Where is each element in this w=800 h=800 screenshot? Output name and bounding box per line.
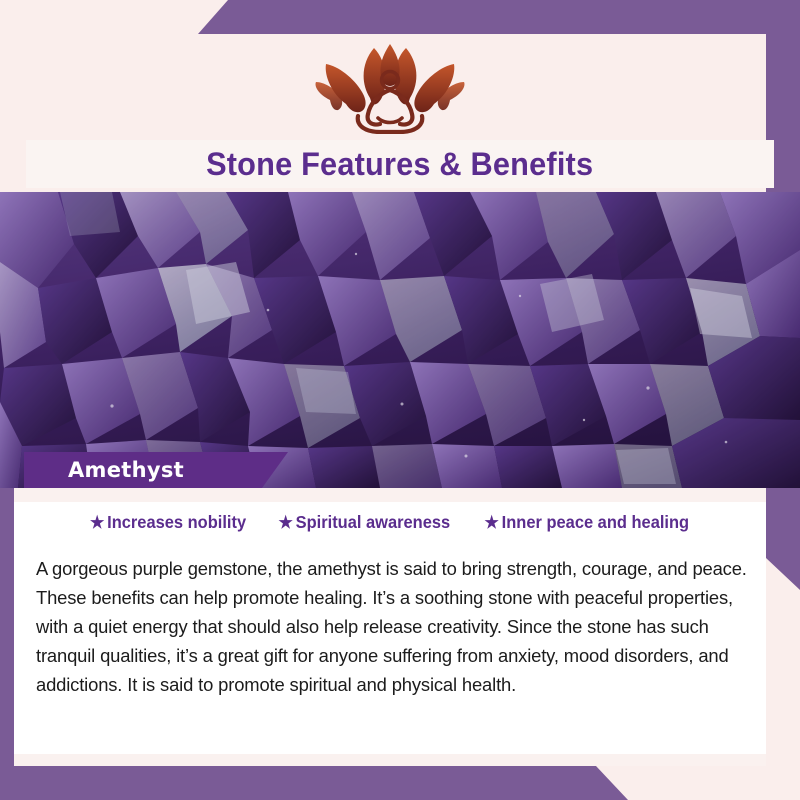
page-title: Stone Features & Benefits	[206, 146, 593, 183]
feature-label-2: Spiritual awareness	[296, 512, 451, 533]
content-bottom-strip	[14, 754, 766, 766]
amethyst-crystal-cluster-photo	[0, 192, 800, 488]
stone-name-banner: Amethyst	[24, 452, 288, 488]
frame-bottom-band	[0, 766, 800, 800]
content-top-strip	[14, 488, 766, 502]
feature-label-3: Inner peace and healing	[501, 512, 688, 533]
frame-top-right-band	[0, 0, 800, 34]
content-panel: ★ Increases nobility ★ Spiritual awarene…	[14, 488, 766, 766]
feature-label-1: Increases nobility	[107, 512, 246, 533]
feature-list: ★ Increases nobility ★ Spiritual awarene…	[14, 512, 766, 533]
feature-item-3: ★ Inner peace and healing	[484, 512, 689, 533]
star-icon: ★	[90, 514, 104, 531]
star-icon: ★	[278, 514, 292, 531]
lotus-meditation-figure-icon	[300, 38, 480, 134]
photo-graphic	[0, 192, 800, 488]
feature-item-2: ★ Spiritual awareness	[278, 512, 450, 533]
stone-description: A gorgeous purple gemstone, the amethyst…	[36, 554, 752, 699]
star-icon: ★	[484, 514, 498, 531]
feature-item-1: ★ Increases nobility	[90, 512, 246, 533]
stone-name-label: Amethyst	[68, 458, 184, 482]
brand-logo: BUDDHA STONES	[14, 38, 766, 156]
title-banner: Stone Features & Benefits	[26, 140, 774, 188]
infographic-card: BUDDHA STONES Stone Features & Benefits	[0, 0, 800, 800]
